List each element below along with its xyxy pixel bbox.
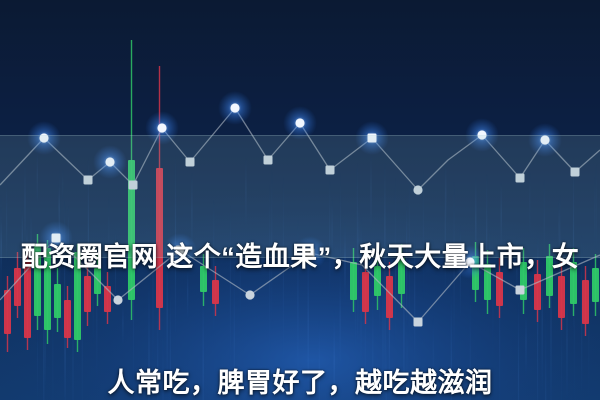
zigzag-node-circle [157,123,166,132]
headline-line-2: 人常吃，脾胃好了，越吃越滋润 [14,362,586,400]
zigzag-node-circle [477,130,486,139]
headline-text: 配资圈官网 这个“造血果”，秋天大量上市，女 人常吃，脾胃好了，越吃越滋润 [0,152,600,400]
zigzag-node-circle [295,118,304,127]
headline-line-1: 配资圈官网 这个“造血果”，秋天大量上市，女 [14,236,586,278]
zigzag-node-square [368,134,377,143]
banner-image: 配资圈官网 这个“造血果”，秋天大量上市，女 人常吃，脾胃好了，越吃越滋润 [0,0,600,400]
zigzag-node-circle [230,103,239,112]
zigzag-node-circle [39,133,48,142]
zigzag-node-circle [540,135,549,144]
